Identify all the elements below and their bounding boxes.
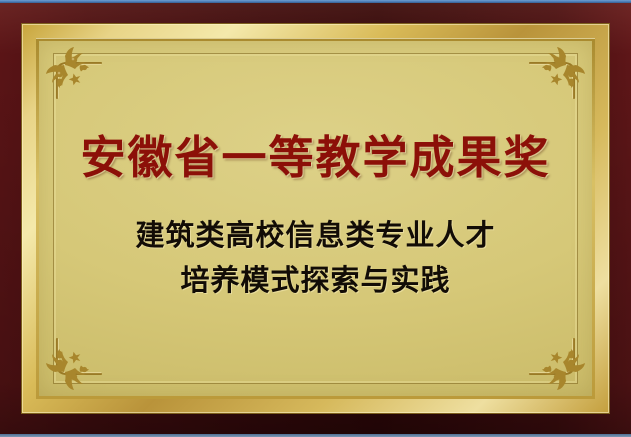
- top-edge-strip: [0, 0, 631, 3]
- plaque-text-block: 安徽省一等教学成果奖 建筑类高校信息类专业人才 培养模式探索与实践: [39, 41, 592, 396]
- plaque-plate: 安徽省一等教学成果奖 建筑类高校信息类专业人才 培养模式探索与实践: [39, 41, 592, 396]
- project-title-line-1: 建筑类高校信息类专业人才: [135, 213, 495, 258]
- award-plaque: 安徽省一等教学成果奖 建筑类高校信息类专业人才 培养模式探索与实践: [0, 0, 631, 437]
- project-title-line-2: 培养模式探索与实践: [135, 258, 495, 303]
- award-title: 安徽省一等教学成果奖: [80, 134, 550, 181]
- project-title: 建筑类高校信息类专业人才 培养模式探索与实践: [135, 213, 495, 303]
